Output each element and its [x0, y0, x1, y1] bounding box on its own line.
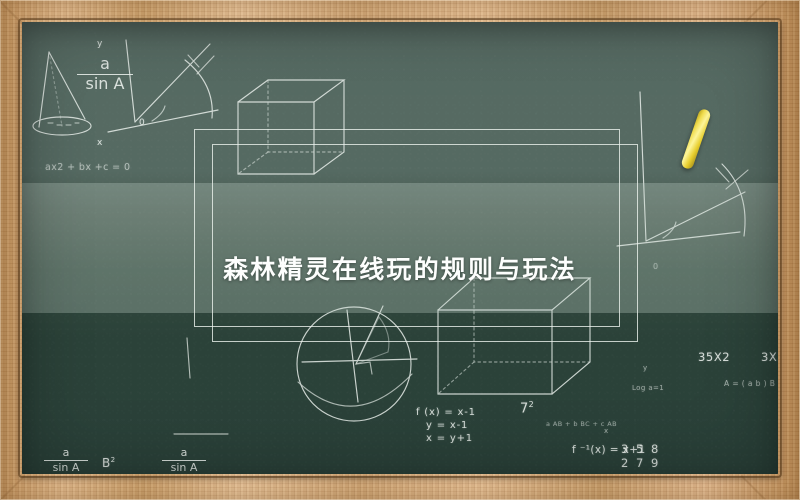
chalkboard-cover: a sin A y x 0 ax2 + bx +c = 0 0 f (x) = … [0, 0, 800, 500]
board-inner-lip [20, 20, 780, 476]
